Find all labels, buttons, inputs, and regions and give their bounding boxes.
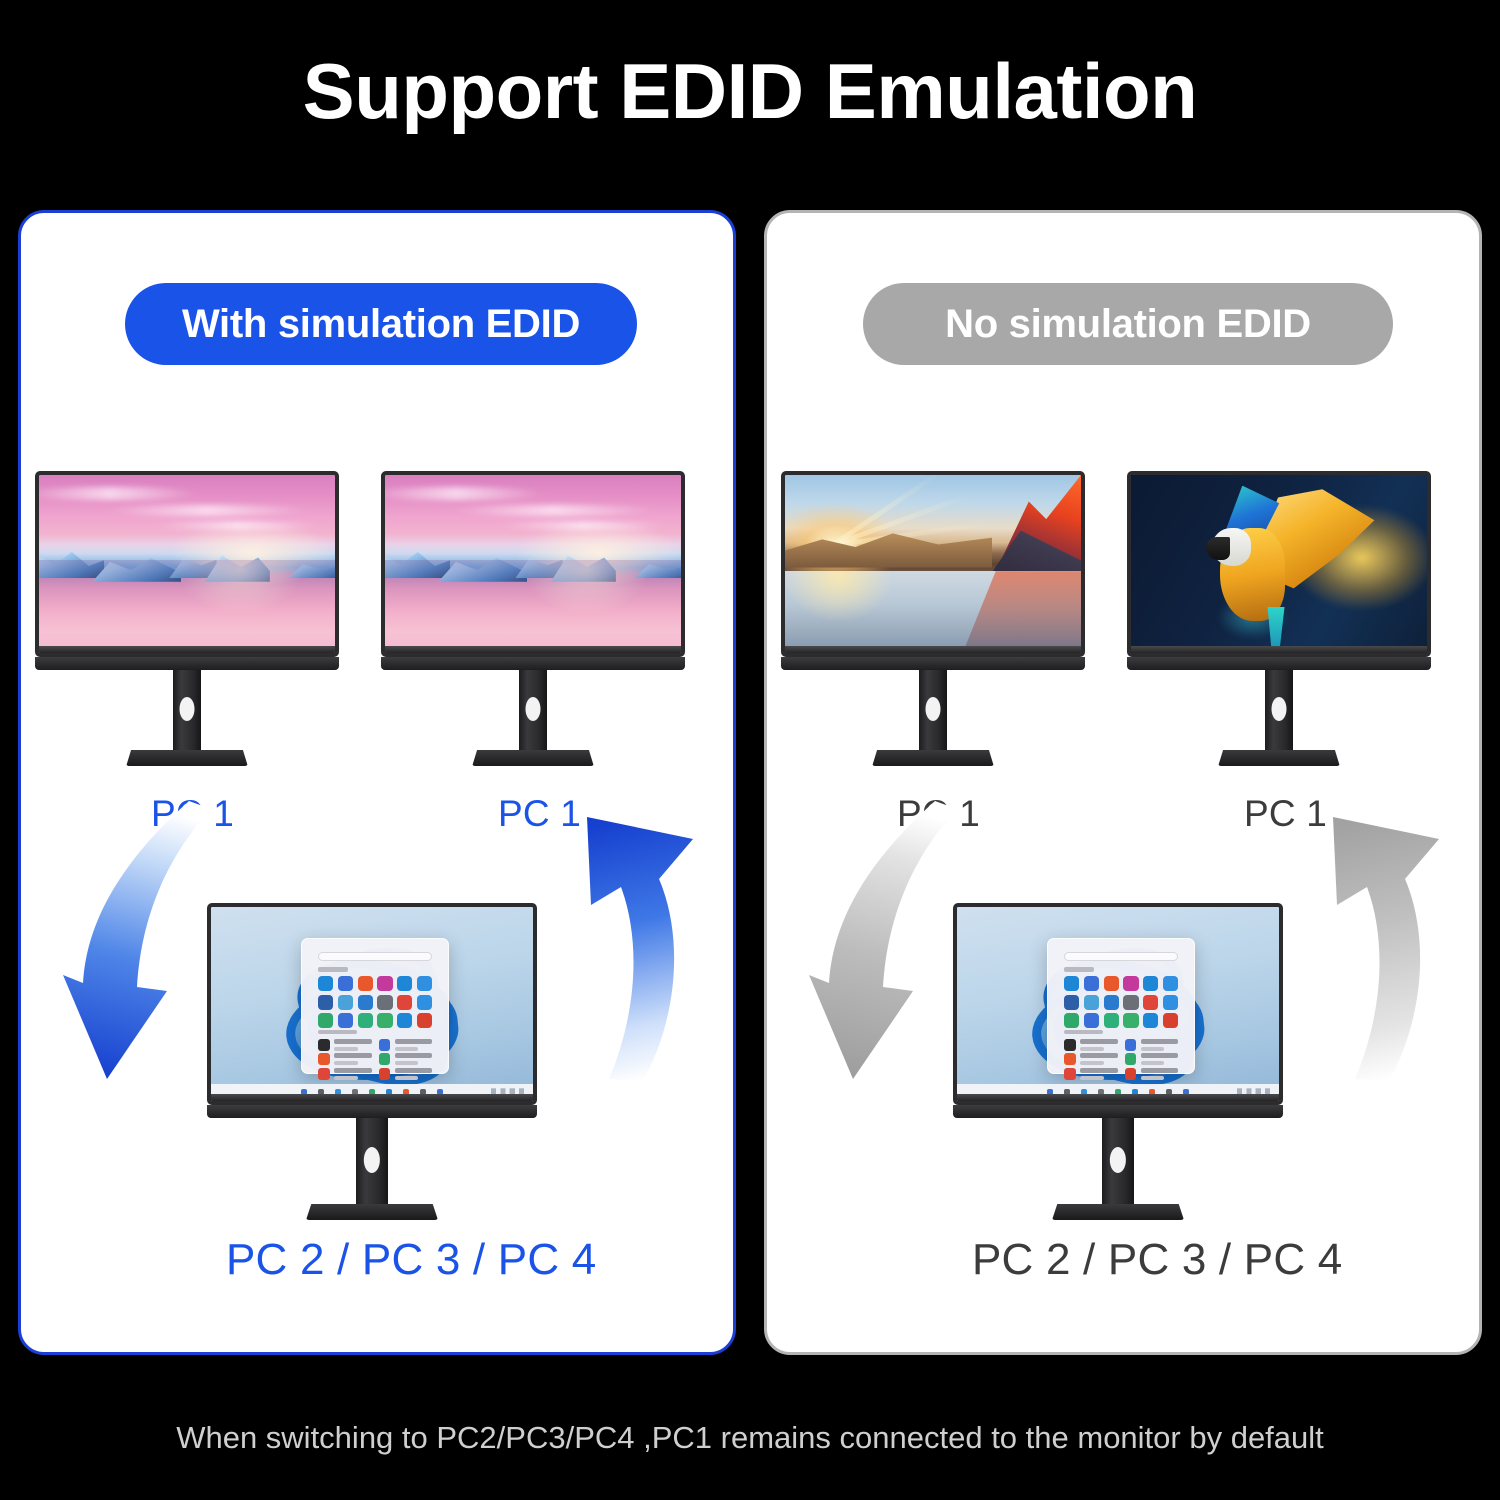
footer-caption: When switching to PC2/PC3/PC4 ,PC1 remai… <box>0 1420 1500 1456</box>
wallpaper-pink-iceberg-sunset <box>39 475 335 653</box>
system-tray-icon <box>1237 1089 1272 1096</box>
wallpaper-macaw-parrot <box>1131 475 1427 653</box>
monitor-chin <box>381 657 685 670</box>
product-feature-graphic: Support EDID Emulation With simulation E… <box>0 0 1500 1500</box>
wallpaper-windows-11-desktop <box>957 907 1279 1101</box>
windows-taskbar-icon <box>211 1084 533 1101</box>
list-item <box>318 1053 372 1065</box>
start-menu-search-input[interactable] <box>318 952 432 961</box>
monitor-stand-base <box>472 750 594 766</box>
monitor-label-pc234: PC 2 / PC 3 / PC 4 <box>972 1235 1342 1285</box>
list-item <box>1125 1053 1179 1065</box>
list-item <box>1064 1039 1118 1051</box>
list-item <box>318 1068 372 1080</box>
monitor-stand-neck <box>1102 1118 1133 1204</box>
monitor-stand-neck <box>356 1118 387 1204</box>
list-item <box>1125 1039 1179 1051</box>
system-tray-icon <box>491 1089 526 1096</box>
start-menu-search-input[interactable] <box>1064 952 1178 961</box>
panel-no-simulation-edid: No simulation EDID PC 1 <box>764 210 1482 1355</box>
start-menu-icon <box>1047 938 1195 1074</box>
arrow-up-right <box>551 783 731 1083</box>
pinned-app-grid <box>318 976 432 1022</box>
monitor-stand-neck <box>173 670 202 750</box>
oval-cutout-icon <box>526 697 541 721</box>
monitor-pc1-left <box>35 471 339 766</box>
monitor-stand-base <box>306 1204 438 1220</box>
list-item <box>379 1068 433 1080</box>
monitor-screen <box>381 471 685 657</box>
monitor-stand-base <box>872 750 994 766</box>
page-title: Support EDID Emulation <box>0 52 1500 130</box>
monitor-screen <box>953 903 1283 1105</box>
list-item <box>379 1053 433 1065</box>
monitor-label-pc234: PC 2 / PC 3 / PC 4 <box>226 1235 596 1285</box>
pinned-label <box>1064 967 1094 971</box>
windows-taskbar-icon <box>957 1084 1279 1101</box>
badge-with-simulation-edid: With simulation EDID <box>125 283 637 365</box>
monitor-stand-neck <box>1265 670 1294 750</box>
monitor-stand-base <box>126 750 248 766</box>
list-item <box>1064 1053 1118 1065</box>
monitor-stand-neck <box>919 670 948 750</box>
monitor-chin <box>781 657 1085 670</box>
monitor-screen <box>1127 471 1431 657</box>
list-item <box>1064 1068 1118 1080</box>
panel-with-simulation-edid: With simulation EDID <box>18 210 736 1355</box>
wallpaper-sunrise-mountain-lake <box>785 475 1081 653</box>
monitor-pc1-left <box>781 471 1085 766</box>
pinned-label <box>318 967 348 971</box>
arrow-up-right <box>1297 783 1477 1083</box>
start-menu-icon <box>301 938 449 1074</box>
monitor-pc234 <box>207 903 537 1220</box>
recommended-label <box>318 1030 357 1034</box>
monitor-pc234 <box>953 903 1283 1220</box>
monitor-pc1-right <box>381 471 685 766</box>
monitor-chin <box>1127 657 1431 670</box>
monitor-stand-base <box>1052 1204 1184 1220</box>
wallpaper-pink-iceberg-sunset <box>385 475 681 653</box>
monitor-chin <box>35 657 339 670</box>
recommended-list <box>318 1039 432 1075</box>
monitor-pc1-right <box>1127 471 1431 766</box>
list-item <box>318 1039 372 1051</box>
monitor-stand-neck <box>519 670 548 750</box>
monitor-screen <box>35 471 339 657</box>
oval-cutout-icon <box>926 697 941 721</box>
pinned-app-grid <box>1064 976 1178 1022</box>
oval-cutout-icon <box>1272 697 1287 721</box>
wallpaper-windows-11-desktop <box>211 907 533 1101</box>
badge-no-simulation-edid: No simulation EDID <box>863 283 1393 365</box>
oval-cutout-icon <box>1110 1147 1126 1173</box>
oval-cutout-icon <box>180 697 195 721</box>
recommended-list <box>1064 1039 1178 1075</box>
monitor-screen <box>207 903 537 1105</box>
monitor-chin <box>953 1105 1283 1118</box>
list-item <box>1125 1068 1179 1080</box>
recommended-label <box>1064 1030 1103 1034</box>
monitor-screen <box>781 471 1085 657</box>
list-item <box>379 1039 433 1051</box>
monitor-chin <box>207 1105 537 1118</box>
oval-cutout-icon <box>364 1147 380 1173</box>
monitor-stand-base <box>1218 750 1340 766</box>
